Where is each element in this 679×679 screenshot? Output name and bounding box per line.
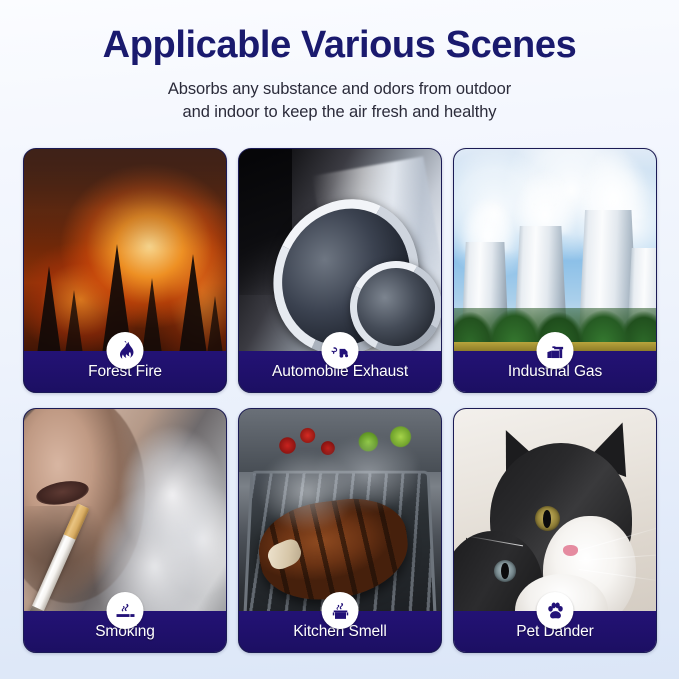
tree-silhouette xyxy=(141,278,163,362)
header: Applicable Various Scenes Absorbs any su… xyxy=(0,0,679,124)
page-subtitle: Absorbs any substance and odors from out… xyxy=(0,78,679,125)
scene-card-pet-dander[interactable]: Pet Dander xyxy=(453,408,657,653)
page-title: Applicable Various Scenes xyxy=(0,24,679,67)
flame-icon xyxy=(107,332,144,369)
subtitle-line-1: Absorbs any substance and odors from out… xyxy=(0,78,679,101)
scene-card-smoking[interactable]: Smoking xyxy=(23,408,227,653)
scene-card-grid: Forest Fire xyxy=(23,148,657,653)
cooking-pot-icon xyxy=(322,592,359,629)
steam-plume xyxy=(571,149,656,220)
scene-card-forest-fire[interactable]: Forest Fire xyxy=(23,148,227,393)
cat-eye xyxy=(535,506,560,531)
tree-silhouette xyxy=(36,266,62,362)
cooking-steam xyxy=(255,428,417,550)
cigarette-icon xyxy=(107,592,144,629)
smoke-haze xyxy=(24,149,226,251)
paw-print-icon xyxy=(537,592,574,629)
scene-card-kitchen-smell[interactable]: Kitchen Smell xyxy=(238,408,442,653)
car-exhaust-icon xyxy=(322,332,359,369)
cat-eye xyxy=(494,560,516,582)
infographic-page: Applicable Various Scenes Absorbs any su… xyxy=(0,0,679,679)
subtitle-line-2: and indoor to keep the air fresh and hea… xyxy=(0,101,679,124)
scene-card-automobile-exhaust[interactable]: Automobile Exhaust xyxy=(238,148,442,393)
scene-card-industrial-gas[interactable]: Industrial Gas xyxy=(453,148,657,393)
tree-silhouette xyxy=(178,254,208,362)
factory-icon xyxy=(537,332,574,369)
